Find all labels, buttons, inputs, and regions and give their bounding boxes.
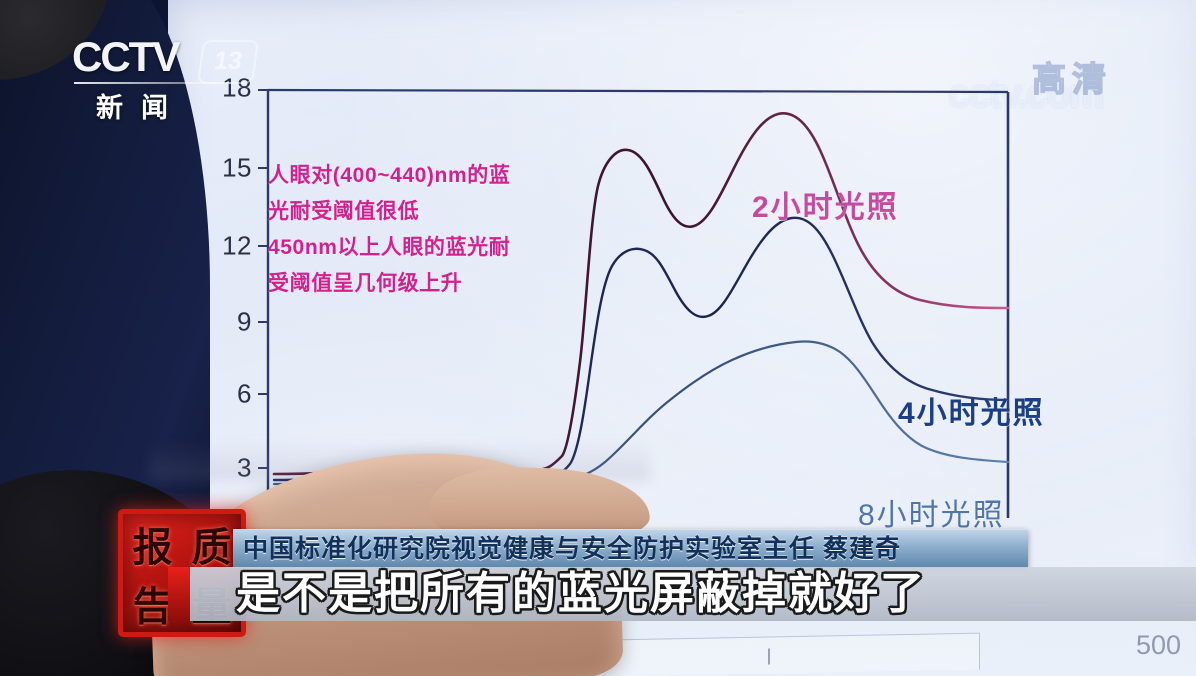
- annotation-line-3: 450nm以上人眼的蓝光耐: [268, 230, 598, 266]
- broadcast-screenshot: 组别 cctv.com 高清 18 15 12 9 6 3: [0, 0, 1196, 676]
- slide-annotation-text: 人眼对(400~440)nm的蓝 光耐受阈值很低 450nm以上人眼的蓝光耐 受…: [268, 158, 598, 302]
- annotation-line-2: 光耐受阈值很低: [268, 194, 598, 230]
- speaker-name-text: 中国标准化研究院视觉健康与安全防护实验室主任 蔡建奇: [243, 531, 1022, 567]
- subtitle-red-tab: [168, 567, 190, 621]
- channel-name-label: 新闻: [96, 86, 186, 125]
- curve-label-4h: 4小时光照: [898, 388, 1045, 432]
- channel-number-badge: 13: [197, 40, 259, 84]
- speaker-name-bar: 中国标准化研究院视觉健康与安全防护实验室主任 蔡建奇: [233, 529, 1028, 568]
- cctv-channel-logo: CCTV 13 新闻: [72, 36, 240, 122]
- hd-watermark: 高清: [1032, 52, 1112, 101]
- y-axis-ticks: [258, 90, 268, 468]
- curve-label-8h: 8小时光照: [858, 490, 1005, 534]
- annotation-line-4: 受阈值呈几何级上升: [268, 266, 598, 302]
- top-border-line: [268, 90, 1008, 92]
- slide-bottom-table-tick: [768, 648, 770, 664]
- logo-divider: [74, 82, 239, 84]
- x-tick-500: 500: [1136, 630, 1181, 661]
- subtitle-text: 是不是把所有的蓝光屏蔽掉就好了: [236, 567, 976, 621]
- annotation-line-1: 人眼对(400~440)nm的蓝: [268, 158, 598, 194]
- seal-char-1: 报: [123, 514, 182, 573]
- curve-label-2h: 2小时光照: [752, 182, 899, 226]
